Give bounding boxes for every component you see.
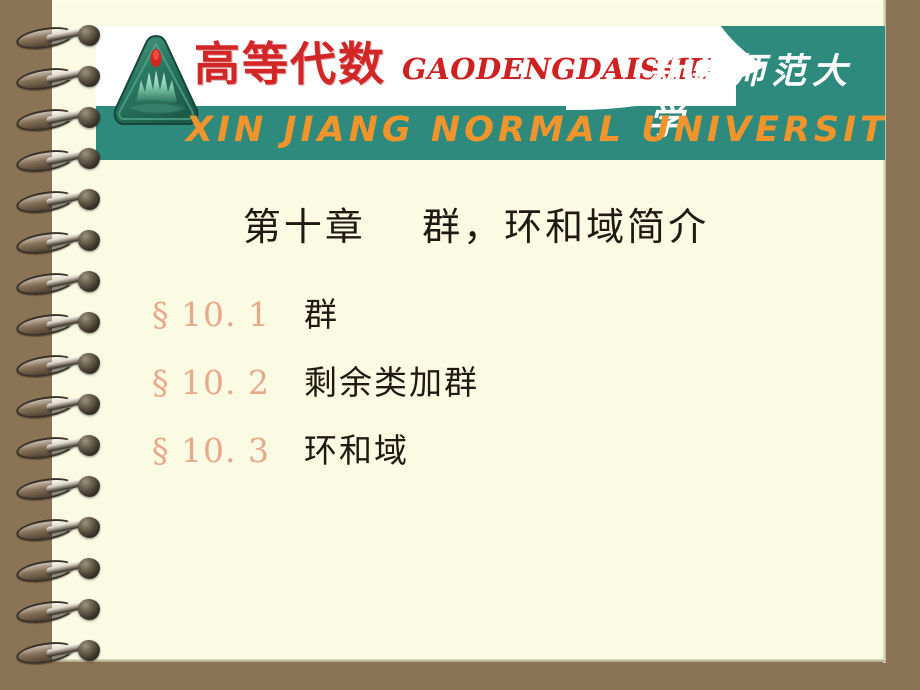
section-label: 剩余类加群 [304, 356, 479, 404]
list-item[interactable]: § 10. 3 环和域 [152, 424, 792, 492]
slide-canvas: 高等代数 GAODENGDAISHU 新疆师范大学 XIN JIANG NORM… [0, 0, 920, 690]
page-edge-bottom [52, 659, 886, 662]
chapter-subject: 群，环和域简介 [422, 205, 709, 249]
chapter-number: 第十章 [243, 205, 366, 249]
page-title: 第十章 群，环和域简介 [96, 196, 856, 251]
section-label: 环和域 [304, 424, 409, 472]
list-item[interactable]: § 10. 1 群 [152, 288, 792, 356]
section-number: § 10. 1 [152, 295, 304, 334]
section-list: § 10. 1 群 § 10. 2 剩余类加群 § 10. 3 环和域 [152, 288, 792, 492]
header-banner: 高等代数 GAODENGDAISHU 新疆师范大学 XIN JIANG NORM… [96, 26, 885, 160]
course-title-cn: 高等代数 [194, 34, 386, 94]
section-number: § 10. 2 [152, 363, 304, 402]
section-number: § 10. 3 [152, 431, 304, 470]
list-item[interactable]: § 10. 2 剩余类加群 [152, 356, 792, 424]
university-name-en: XIN JIANG NORMAL UNIVERSITY [186, 110, 885, 150]
section-label: 群 [304, 288, 339, 336]
